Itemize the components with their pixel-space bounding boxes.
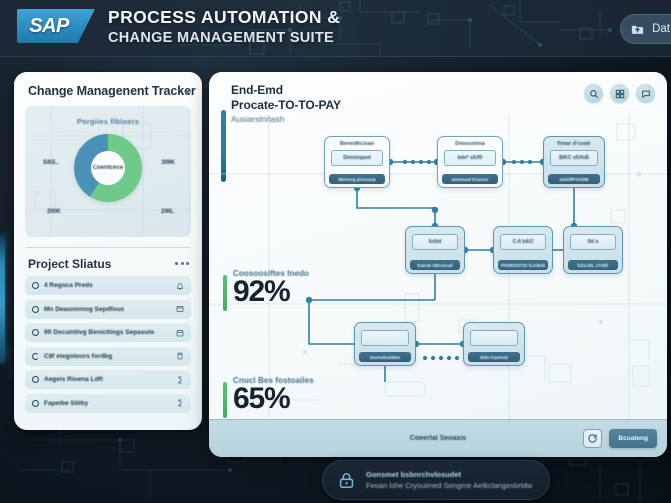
flow-node-footer: Metsreg pirocanp	[329, 174, 385, 184]
kpi-value-2: 65%	[233, 383, 314, 415]
status-row-label: C8f etegotoors fordbg	[44, 353, 176, 360]
flow-node-footer-text: mxmufcatdeis	[370, 355, 400, 360]
status-row-label: Mn Deaunnmog Sepdfous	[44, 306, 176, 313]
device-icon[interactable]	[176, 347, 184, 365]
flow-node-body-text: bdn* sIUf0	[458, 155, 483, 161]
header-data-button[interactable]: Dat	[620, 14, 671, 44]
flow-node-footer-text: Metsreg pirocanp	[338, 177, 376, 182]
grid-icon-button[interactable]	[610, 84, 629, 103]
status-bullet-icon	[32, 306, 39, 313]
header-data-button-label: Dat	[652, 23, 670, 35]
flow-node-footer: mxmufcatdeis	[359, 352, 411, 362]
app-title-line1: PROCESS AUTOMATION &	[108, 7, 340, 28]
status-bullet-icon	[32, 376, 39, 383]
status-row[interactable]: 9fi Decuintivg Benicltings Sepasute	[25, 323, 191, 342]
flow-node-footer-text: sKIUfR*/sISIB	[559, 177, 588, 182]
status-row-label: Aegeis Rioena Ldft	[44, 376, 176, 383]
flow-node-body	[361, 330, 409, 346]
flow-node[interactable]: defa fJarInsb	[463, 322, 525, 366]
diagram-toolbar: Coeertal Seoaxis Bcoateng	[209, 419, 667, 457]
hourglass-icon[interactable]	[176, 394, 184, 412]
flow-node-footer-text: defa fJarInsb	[480, 355, 508, 360]
donut-label-bottom-right: 29IL	[161, 208, 174, 215]
status-bullet-icon	[32, 282, 39, 289]
status-bullet-icon	[32, 400, 39, 407]
flow-node[interactable]: fufddEairok SBccicaif	[405, 226, 465, 274]
flow-node-footer: ammsual Ecactrs	[442, 174, 498, 184]
flow-node-body: BIKC sfUfsB	[550, 150, 598, 166]
lock-icon	[337, 471, 356, 490]
flow-node-body: bdn* sIUf0	[444, 150, 496, 166]
grid-icon	[615, 89, 625, 99]
flow-node-body-text: Dieistrapod	[343, 155, 371, 161]
flow-node-footer-text: PEMEDSTDt fLinlbdt	[501, 263, 545, 268]
chat-icon	[641, 89, 651, 99]
flow-node[interactable]: Dmosstenabdn* sIUf0ammsual Ecactrs	[437, 136, 503, 188]
flow-node[interactable]: fid obZGJdL sTtdfr	[563, 226, 623, 274]
flow-node-body: Dieistrapod	[331, 150, 383, 166]
donut-label-top-left: S6S..	[43, 159, 59, 166]
status-row-label: 4 Regoca Preds	[44, 282, 176, 289]
flow-node-body: fufdd	[412, 234, 458, 250]
donut-chart-card: Porgiies fibioers Coentcece S6S.. 3I9K 2…	[25, 106, 191, 237]
project-status-title: Project Sliatus	[28, 257, 111, 271]
flow-node-footer: Eairok SBccicaif	[410, 260, 460, 270]
donut-label-bottom-left: 2I0K	[47, 208, 61, 215]
chat-icon-button[interactable]	[636, 84, 655, 103]
app-header: SAP PROCESS AUTOMATION & CHANGE MANAGEME…	[0, 0, 671, 57]
flow-node-footer: sKIUfR*/sISIB	[548, 174, 600, 184]
sap-logo-text: SAP	[29, 15, 69, 38]
donut-label-top-right: 3I9K	[161, 159, 175, 166]
flow-node-footer: PEMEDSTDt fLinlbdt	[498, 260, 548, 270]
footer-line2: Feoan lshe Cryouimed Sengme Aetkclangexb…	[366, 481, 532, 490]
kpi-block-2: Cnucl Bes fostoailes 65%	[223, 376, 314, 418]
status-row[interactable]: Aegeis Rioena Ldft	[25, 370, 191, 389]
status-row[interactable]: C8f etegotoors fordbg	[25, 347, 191, 366]
flow-node[interactable]: mxmufcatdeis	[354, 322, 416, 366]
process-flow-canvas[interactable]: Coosoosiftes Inedo 92% Cnucl Bes fostoai…	[209, 114, 667, 419]
kpi-value-1: 92%	[233, 276, 309, 308]
donut-chart-title: Porgiies fibioers	[25, 117, 191, 126]
toolbar-primary-button[interactable]: Bcoateng	[609, 429, 657, 448]
status-bullet-icon	[32, 353, 39, 360]
app-root: SAP PROCESS AUTOMATION & CHANGE MANAGEME…	[0, 0, 671, 503]
flow-node-body-text: fid o	[588, 239, 599, 245]
refresh-icon	[587, 433, 598, 444]
header-title-group: PROCESS AUTOMATION & CHANGE MANAGEMENT S…	[108, 7, 340, 48]
left-panel-menu-dot[interactable]	[185, 91, 189, 95]
flow-node-footer-text: ammsual Ecactrs	[451, 177, 488, 182]
status-row[interactable]: 4 Regoca Preds	[25, 276, 191, 295]
donut-hole: Coentcece	[91, 151, 125, 185]
footer-notice-pill[interactable]: Gonsmet bsbnrchvlosudet Feoan lshe Cryou…	[322, 460, 550, 500]
kpi-accent-bar	[223, 382, 227, 418]
footer-text-group: Gonsmet bsbnrchvlosudet Feoan lshe Cryou…	[366, 470, 532, 490]
kpi-label-1: Coosoosiftes Inedo	[233, 269, 309, 278]
flow-node-footer: bZGJdL sTtdfr	[568, 260, 618, 270]
toolbar-actions: Bcoateng	[583, 429, 657, 448]
flow-node[interactable]: BenedhcisanDieistrapodMetsreg pirocanp	[324, 136, 390, 188]
flow-node-body	[470, 330, 518, 346]
flow-node-footer-text: Eairok SBccicaif	[417, 263, 452, 268]
calendar-icon[interactable]	[176, 324, 184, 342]
project-status-list: 4 Regoca PredsMn Deaunnmog Sepdfous9fi D…	[25, 276, 191, 413]
search-icon-button[interactable]	[584, 84, 603, 103]
flow-node-body: C-fi bAfJ	[500, 234, 546, 250]
diagram-title-line1: End-Emd	[231, 83, 341, 98]
flow-node-body: fid o	[570, 234, 616, 250]
sap-logo: SAP	[17, 9, 95, 43]
status-row[interactable]: Mn Deaunnmog Sepdfous	[25, 300, 191, 319]
footer-line1: Gonsmet bsbnrchvlosudet	[366, 470, 532, 479]
project-status-more-button[interactable]	[175, 262, 189, 265]
donut-center-label: Coentcece	[93, 165, 123, 171]
hourglass-icon[interactable]	[176, 371, 184, 389]
left-edge-accent	[0, 235, 5, 363]
flow-node-footer-text: bZGJdL sTtdfr	[578, 263, 609, 268]
status-row[interactable]: Fapeibe Stiiby	[25, 394, 191, 413]
flow-node-title: Dmosstena	[438, 141, 502, 147]
status-row-label: Fapeibe Stiiby	[44, 400, 176, 407]
status-row-label: 9fi Decuintivg Benicltings Sepasute	[44, 329, 176, 336]
diagram-title-line2: Procate-TO-TO-PAY	[231, 98, 341, 113]
left-panel-divider	[26, 247, 190, 248]
kpi-accent-bar	[223, 275, 227, 311]
search-icon	[589, 89, 599, 99]
change-management-tracker-panel: Change Managenent Tracker Porgiies fibio…	[14, 72, 202, 430]
status-bullet-icon	[32, 329, 39, 336]
upload-folder-icon	[630, 22, 645, 37]
kpi-block-1: Coosoosiftes Inedo 92%	[223, 269, 309, 311]
flow-node-title: Benedhcisan	[325, 141, 389, 147]
flow-node-title: ftmar d'coatr	[544, 141, 604, 147]
flow-node-footer: defa fJarInsb	[468, 352, 520, 362]
flow-node-body-text: fufdd	[429, 239, 442, 245]
left-panel-title: Change Managenent Tracker	[28, 84, 196, 98]
flow-node[interactable]: C-fi bAfJPEMEDSTDt fLinlbdt	[493, 226, 553, 274]
bell-icon[interactable]	[176, 277, 184, 295]
refresh-button[interactable]	[583, 429, 602, 448]
window-icon[interactable]	[176, 300, 184, 318]
kpi-label-2: Cnucl Bes fostoailes	[233, 376, 314, 385]
flow-node-body-text: BIKC sfUfsB	[559, 155, 589, 161]
donut-chart: Coentcece	[74, 134, 142, 202]
flow-node-body-text: C-fi bAfJ	[513, 239, 534, 245]
flow-node[interactable]: ftmar d'coatrBIKC sfUfsBsKIUfR*/sISIB	[543, 136, 605, 188]
process-diagram-panel: End-Emd Procate-TO-TO-PAY Ausiarstnitash	[209, 72, 667, 457]
app-title-line2: CHANGE MANAGEMENT SUITE	[108, 29, 340, 48]
main-panel-icon-buttons	[584, 84, 655, 103]
